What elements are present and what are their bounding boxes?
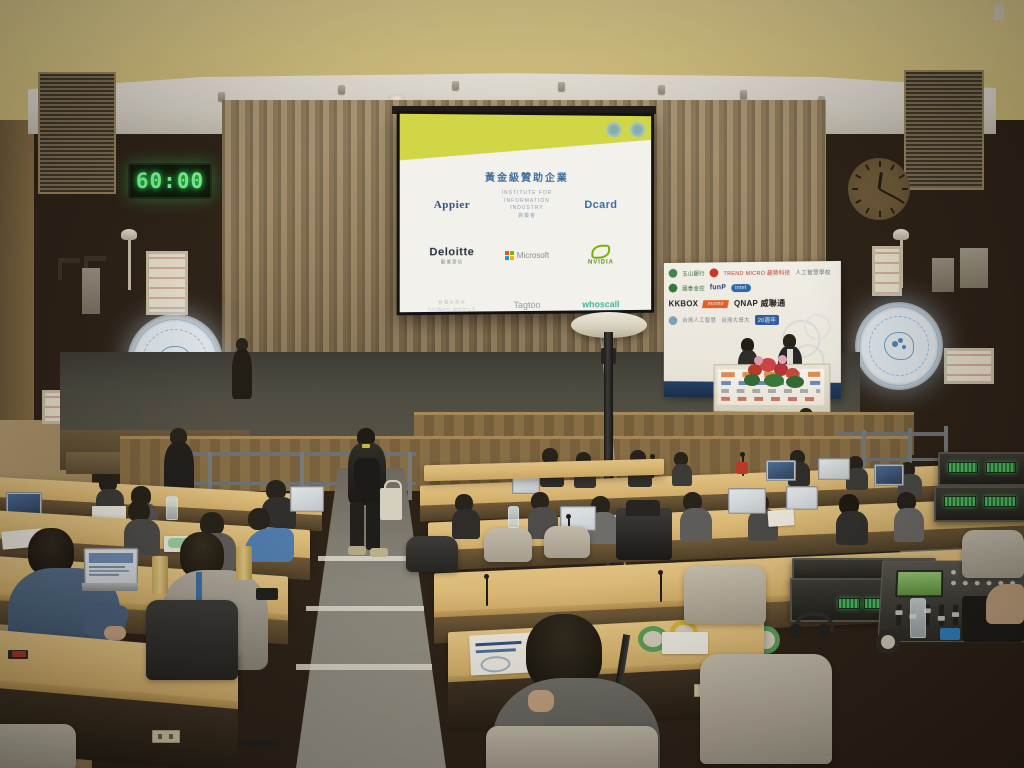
mixer-display[interactable] [895, 570, 943, 597]
printed-handout[interactable] [469, 632, 533, 675]
port-indicator [12, 651, 26, 657]
receiver-lcd-1[interactable] [838, 598, 860, 609]
smartphone[interactable] [940, 628, 960, 640]
mixer-fader[interactable] [939, 605, 944, 626]
projection-screen: 黃金級贊助企業 Appier INSTITUTE FOR INFORMATION… [397, 111, 654, 316]
clock-hour-hand [878, 172, 883, 189]
clock-minute-hand [879, 188, 901, 201]
countdown-timer-display: 60:00 [128, 163, 212, 199]
studio-headphones[interactable] [790, 612, 830, 638]
ceiling-spotlight [558, 82, 565, 91]
hand [104, 626, 126, 640]
speaker-bracket [58, 258, 62, 280]
presentation-slide: 黃金級贊助企業 Appier INSTITUTE FOR INFORMATION… [400, 114, 651, 312]
mixer-fader[interactable] [896, 605, 902, 626]
thermos-flask[interactable] [236, 546, 252, 580]
aisle-step-edge [306, 606, 424, 611]
hand [528, 690, 554, 712]
desk-microphone-head [658, 570, 663, 575]
event-logo-icon [606, 122, 622, 138]
sponsor-logo-microsoft: Microsoft [490, 241, 564, 269]
power-outlet[interactable] [152, 730, 180, 743]
sponsor-logo-grid: Appier INSTITUTE FOR INFORMATION INDUSTR… [414, 191, 637, 312]
wall-speaker [82, 268, 100, 314]
lanyard-badge [362, 444, 370, 448]
nvidia-eye-icon [592, 244, 611, 258]
countdown-timer-value: 60:00 [136, 169, 204, 193]
desk-microphone [486, 578, 488, 606]
drink-bottle [166, 496, 178, 520]
sponsor-logo-nvidia: NVIDIA [564, 241, 637, 269]
sponsor-logo-deloitte: Deloitte 勤業眾信 [414, 241, 490, 270]
desk-microphone-head [566, 514, 571, 519]
water-bottle[interactable] [910, 598, 926, 638]
analog-wall-clock [848, 158, 910, 220]
tote-bag [380, 488, 402, 520]
slide-title: 黃金級贊助企業 [400, 168, 651, 184]
backpack [354, 458, 380, 496]
rack-led-strip [944, 496, 976, 507]
mixer-fader[interactable] [953, 605, 958, 626]
slide-corner-logos [606, 122, 645, 138]
wall-lamp-head [893, 229, 909, 240]
aisle-step-edge [318, 556, 418, 561]
chair-foreground-center [486, 726, 658, 768]
sponsor-logo-tagtoo: Tagtoo [490, 291, 564, 313]
desk-microphone-head [484, 574, 489, 579]
sponsor-logo-dcard: Dcard [564, 191, 637, 219]
ceiling-spotlight [452, 81, 459, 90]
sponsor-logo-whoscall: whoscall [564, 290, 637, 312]
thermos-flask[interactable] [152, 556, 168, 594]
chair-right-mid [684, 566, 766, 624]
smartphone[interactable] [256, 588, 278, 600]
wall-lamp-arm [128, 236, 131, 290]
sponsor-logo-appier: Appier [414, 191, 490, 219]
ceiling-spotlight [338, 85, 345, 94]
ventilation-grille-right [904, 70, 984, 190]
desk-microphone [660, 574, 662, 602]
head-profile-icon [884, 332, 914, 360]
sponsor-logo-taiwanmobile: 台灣大哥大 TAIWAN MOBILE [414, 291, 490, 312]
chair-right-mid-2 [962, 530, 1024, 578]
ventilation-grille-left [38, 72, 116, 194]
chair-right-foreground [700, 654, 832, 764]
handout-paper [767, 509, 794, 527]
handrail-horizontal-right [836, 432, 946, 436]
banner-row: KKBOX momo QNAP 威聯通 [669, 298, 836, 310]
microsoft-squares-icon [505, 251, 514, 260]
wall-lamp-head [121, 229, 137, 240]
wall-framed-sign [872, 246, 902, 296]
paper-stack [662, 632, 708, 654]
org-logo-icon [630, 122, 646, 138]
ceiling-spotlight [658, 85, 665, 94]
wall-framed-sign [146, 251, 188, 315]
red-marker-object [736, 462, 748, 474]
gaffer-tape-roll-black[interactable] [876, 630, 900, 654]
wall-speaker [960, 248, 988, 288]
water-bottle [508, 506, 519, 528]
floral-arrangement [742, 354, 812, 388]
banner-row: 玉山銀行 TREND MICRO 趨勢科技 人工智慧學校 [669, 267, 836, 278]
rack-led-strip [986, 462, 1016, 473]
rack-led-strip [984, 496, 1016, 507]
aisle-step-edge [296, 664, 432, 670]
office-chair-left-2 [406, 536, 458, 572]
ceiling-spotlight [740, 90, 747, 99]
ceiling-sensor [994, 4, 1004, 20]
auditorium-scene: 60:00 黃金級贊助企業 Appier [0, 0, 1024, 768]
wall-framed-sign [944, 348, 994, 384]
wall-speaker [932, 258, 954, 292]
sponsor-logo-iii: INSTITUTE FOR INFORMATION INDUSTRY 資策會 [490, 191, 564, 219]
banner-row: 國泰金控 funP intel [669, 282, 836, 292]
chair-base [236, 740, 282, 748]
chair-right-back-2 [544, 526, 590, 558]
stage-light-yoke [626, 500, 660, 516]
office-chair-left [146, 600, 238, 680]
desk-microphone-head [740, 452, 745, 457]
chair-right-back [484, 528, 532, 562]
rack-led-strip [948, 462, 978, 473]
handrail-post [408, 452, 412, 500]
brain-gear-gobo-projection-right [855, 302, 943, 390]
chair-left-foreground [0, 724, 76, 768]
